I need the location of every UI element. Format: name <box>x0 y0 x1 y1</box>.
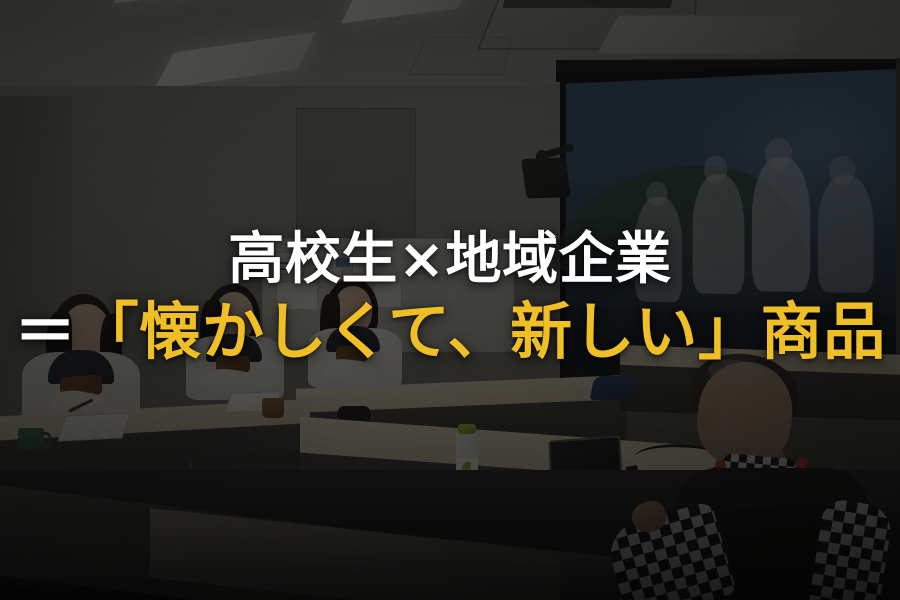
thumbnail-canvas: 高校生×地域企業 ＝「懐かしくて、新しい」商品 <box>0 0 900 600</box>
background-photo <box>0 0 900 600</box>
bottom-fade-overlay <box>0 480 900 600</box>
